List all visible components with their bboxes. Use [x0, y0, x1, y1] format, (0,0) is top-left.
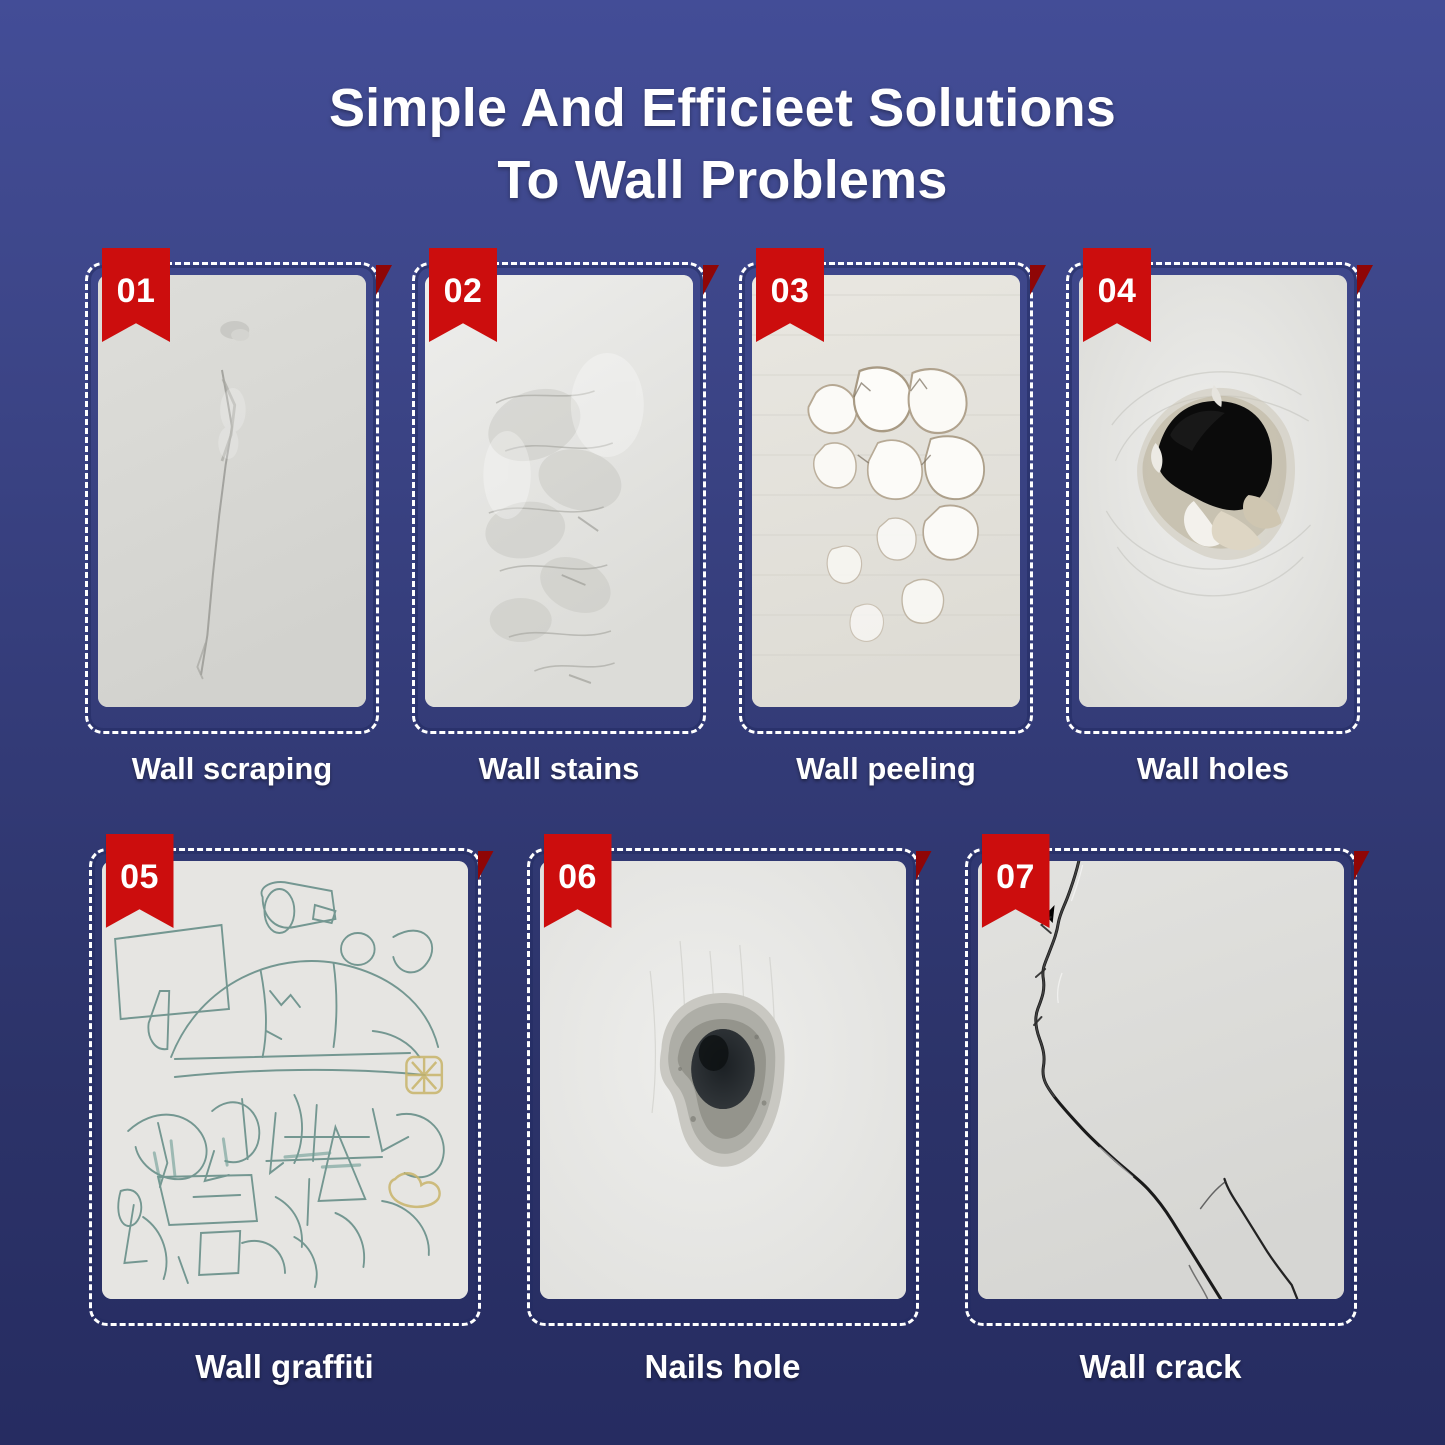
wall-hole-photo: [1079, 275, 1347, 707]
ribbon-number: 06: [558, 860, 597, 894]
card-label: Nails hole: [527, 1348, 919, 1386]
ribbon-fold-icon: [703, 265, 719, 295]
page-title-line-1: Simple And Efficieet Solutions: [0, 72, 1445, 144]
card-label: Wall scraping: [85, 750, 379, 788]
card-frame: 07: [965, 848, 1357, 1326]
ribbon-number: 03: [771, 274, 810, 308]
card-label: Wall graffiti: [89, 1348, 481, 1386]
wall-crack-photo: [978, 861, 1344, 1299]
card-wall-crack[interactable]: 07: [965, 848, 1357, 1386]
card-row-2: 05: [0, 848, 1445, 1386]
card-frame: 03: [739, 262, 1033, 734]
ribbon-fold-icon: [1357, 265, 1373, 295]
card-label: Wall stains: [412, 750, 706, 788]
wall-peeling-photo: [752, 275, 1020, 707]
wall-graffiti-photo: [102, 861, 468, 1299]
card-label: Wall peeling: [739, 750, 1033, 788]
problem-card-grid: 01: [0, 262, 1445, 1386]
ribbon-fold-icon: [1354, 851, 1370, 881]
card-nails-hole[interactable]: 06: [527, 848, 919, 1386]
ribbon-number: 07: [996, 860, 1035, 894]
card-wall-graffiti[interactable]: 05: [89, 848, 481, 1386]
ribbon-number: 04: [1098, 274, 1137, 308]
ribbon-number: 05: [120, 860, 159, 894]
card-frame: 01: [85, 262, 379, 734]
wall-scrape-photo: [98, 275, 366, 707]
ribbon-fold-icon: [916, 851, 932, 881]
card-frame: 04: [1066, 262, 1360, 734]
page-title-line-2: To Wall Problems: [0, 144, 1445, 216]
card-frame: 06: [527, 848, 919, 1326]
card-frame: 05: [89, 848, 481, 1326]
ribbon-number: 02: [444, 274, 483, 308]
card-row-1: 01: [0, 262, 1445, 788]
nail-hole-photo: [540, 861, 906, 1299]
wall-stain-photo: [425, 275, 693, 707]
ribbon-fold-icon: [478, 851, 494, 881]
page-title: Simple And Efficieet Solutions To Wall P…: [0, 72, 1445, 216]
ribbon-fold-icon: [1030, 265, 1046, 295]
card-wall-holes[interactable]: 04: [1066, 262, 1360, 788]
card-frame: 02: [412, 262, 706, 734]
card-wall-peeling[interactable]: 03: [739, 262, 1033, 788]
ribbon-number: 01: [117, 274, 156, 308]
card-label: Wall crack: [965, 1348, 1357, 1386]
ribbon-fold-icon: [376, 265, 392, 295]
card-wall-stains[interactable]: 02: [412, 262, 706, 788]
card-label: Wall holes: [1066, 750, 1360, 788]
card-wall-scraping[interactable]: 01: [85, 262, 379, 788]
